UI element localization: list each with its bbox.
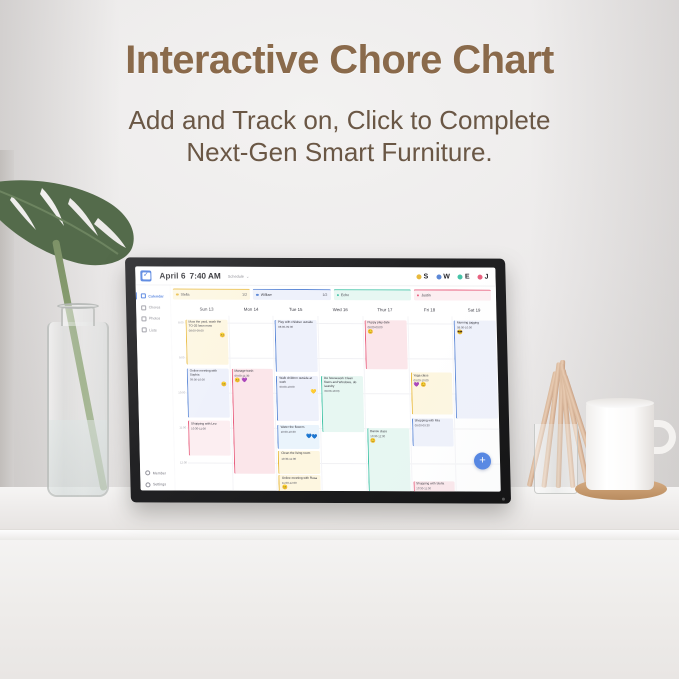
hour-label: 8:00 xyxy=(178,321,184,325)
day-header[interactable]: Sun 13 xyxy=(184,307,229,312)
sidebar-item-label: Member xyxy=(153,471,166,475)
sidebar-item-chores[interactable]: Chores xyxy=(136,302,170,313)
app-body: CalendarChoresPhotosListsMemberSettings … xyxy=(136,285,501,491)
member-dot xyxy=(256,294,259,297)
member-progress: 1/2 xyxy=(242,293,247,297)
vase-neck xyxy=(61,306,95,326)
sidebar-item-calendar[interactable]: Calendar xyxy=(136,290,170,301)
event-title: Shopping with Stella xyxy=(416,482,453,486)
subtitle-line-1: Add and Track on, Click to Complete xyxy=(0,105,679,137)
day-header-row: Sun 13Mon 14Tue 15Wed 16Thur 17Fri 18Sat… xyxy=(171,303,496,317)
avatar-dot xyxy=(458,274,463,279)
event-title: Morning jogging xyxy=(457,322,494,326)
event-title: Do housework Clean floors and Windows, d… xyxy=(324,377,361,388)
add-event-button[interactable]: + xyxy=(474,453,491,470)
event-emoji: 😊 xyxy=(190,383,227,388)
event-title: Manage trash xyxy=(234,370,271,374)
calendar-event[interactable]: Manage trash09:00-11:30😊 💜 xyxy=(231,368,275,473)
event-emoji: 😊 xyxy=(189,334,226,339)
event-title: Puppy play date xyxy=(367,321,404,325)
calendar-event[interactable]: Puppy play date08:00-09:00😊 xyxy=(364,320,407,369)
member-chip-row: Stella1/2William1/2EchoJustin xyxy=(171,286,497,304)
member-name: Stella xyxy=(180,293,189,297)
avatar-dot xyxy=(417,274,422,279)
vase-lip xyxy=(57,303,99,309)
event-title: Clean the living room xyxy=(281,452,318,456)
calendar-event[interactable]: Dance class10:30-12:00😊 xyxy=(367,428,410,491)
event-emoji: 😊 💜 xyxy=(235,379,272,384)
current-time: 7:40 AM xyxy=(189,271,220,280)
member-dot xyxy=(176,293,179,296)
hour-label: 11:00 xyxy=(179,425,186,429)
white-mug xyxy=(586,402,654,490)
member-chip-justin[interactable]: Justin xyxy=(414,289,492,300)
smart-display: April 6 7:40 AM Schedule ⌄ SWEJ Calendar… xyxy=(125,257,511,503)
member-name: Echo xyxy=(341,293,349,297)
desk-front-panel xyxy=(0,540,679,679)
calendar-grid-wrapper: 8:009:0010:0011:0012:00 Mow the yard, wa… xyxy=(171,316,500,492)
chevron-down-icon: ⌄ xyxy=(246,273,249,278)
broom-icon xyxy=(141,305,146,310)
day-column[interactable]: Yoga class09:00-10:00💜 😊Shopping with Mi… xyxy=(408,316,457,491)
mug-rim xyxy=(586,398,654,408)
product-scene: Interactive Chore Chart Add and Track on… xyxy=(0,0,679,679)
calendar-icon xyxy=(141,294,146,299)
event-title: Yoga class xyxy=(413,374,450,378)
avatar-letter: J xyxy=(485,273,489,280)
event-emoji: 😎 xyxy=(457,331,494,336)
avatar-echo[interactable]: E xyxy=(458,273,470,280)
day-header[interactable]: Wed 16 xyxy=(318,307,363,312)
event-title: Shopping with Leo xyxy=(191,422,228,426)
avatar-dot xyxy=(478,274,483,279)
sidebar-item-label: Chores xyxy=(149,305,161,309)
day-column[interactable]: Mow the yard, wash the TO-35 lawn mow08:… xyxy=(184,316,233,491)
day-header[interactable]: Thur 17 xyxy=(363,307,408,312)
calendar-event[interactable]: Yoga class09:00-10:00💜 😊 xyxy=(410,372,453,414)
calendar-event[interactable]: Play with children outside08:00-09:00 xyxy=(275,319,318,372)
event-time: 10:30-11:00 xyxy=(281,457,318,461)
calendar-check-icon[interactable] xyxy=(140,270,151,281)
avatar-letter: E xyxy=(465,273,470,280)
subtitle-line-2: Next-Gen Smart Furniture. xyxy=(0,137,679,169)
sidebar-item-label: Lists xyxy=(149,328,156,332)
member-chip-stella[interactable]: Stella1/2 xyxy=(173,289,251,300)
event-time: 09:00-10:00 xyxy=(324,389,361,393)
calendar-event[interactable]: Morning jogging08:00-10:00😎 xyxy=(454,320,498,418)
event-time: 08:00-09:00 xyxy=(278,325,315,329)
display-bezel: April 6 7:40 AM Schedule ⌄ SWEJ Calendar… xyxy=(125,257,511,503)
list-icon xyxy=(142,328,147,333)
event-title: Shopping with Mia xyxy=(415,419,452,423)
event-time: 10:30-11:00 xyxy=(416,487,453,491)
sidebar-item-lists[interactable]: Lists xyxy=(137,325,171,336)
member-chip-william[interactable]: William1/2 xyxy=(253,289,331,300)
member-dot xyxy=(417,294,420,297)
photo-icon xyxy=(141,316,146,321)
sidebar: CalendarChoresPhotosListsMemberSettings xyxy=(136,285,176,490)
sidebar-item-photos[interactable]: Photos xyxy=(136,313,170,324)
sidebar-item-label: Calendar xyxy=(148,294,163,298)
app-top-bar: April 6 7:40 AM Schedule ⌄ SWEJ xyxy=(135,266,496,286)
event-time: 10:30-11:00 xyxy=(191,426,228,430)
avatar-group: SWEJ xyxy=(417,273,489,280)
day-header[interactable]: Mon 14 xyxy=(229,307,274,312)
user-icon xyxy=(145,471,150,476)
calendar-event[interactable]: Online meeting with Sophia09:00-10:00😊 xyxy=(187,368,230,417)
view-selector[interactable]: Schedule ⌄ xyxy=(228,273,250,278)
sidebar-item-settings[interactable]: Settings xyxy=(140,479,174,490)
day-header[interactable]: Sat 19 xyxy=(452,307,497,312)
day-column[interactable]: Manage trash09:00-11:30😊 💜 xyxy=(229,316,278,491)
event-title: Water the flowers xyxy=(281,426,318,430)
member-name: William xyxy=(261,293,273,297)
member-dot xyxy=(336,294,339,297)
sidebar-item-label: Photos xyxy=(149,317,160,321)
event-title: Dance class xyxy=(370,430,407,434)
event-emoji: 😊 xyxy=(282,486,319,491)
day-column[interactable]: Puppy play date08:00-09:00😊Dance class10… xyxy=(363,316,412,491)
avatar-letter: S xyxy=(424,273,429,280)
sidebar-spacer xyxy=(137,336,174,468)
calendar-event[interactable]: Water the flowers10:00-10:30💙💙 xyxy=(277,424,319,449)
calendar-event[interactable]: Mow the yard, wash the TO-35 lawn mow08:… xyxy=(185,319,228,365)
sidebar-item-member[interactable]: Member xyxy=(140,468,174,479)
event-title: Walk children outside at work xyxy=(279,377,316,385)
event-emoji: 💜 😊 xyxy=(414,383,451,388)
event-title: Play with children outside xyxy=(278,321,315,325)
calendar-event[interactable]: Clean the living room10:30-11:00 xyxy=(278,451,320,474)
calendar-event[interactable]: Online meeting with Rosa11:00-12:00😊 xyxy=(279,475,322,492)
pencil-holder xyxy=(534,424,578,494)
current-date: April 6 xyxy=(159,271,185,280)
calendar-panel: Stella1/2William1/2EchoJustin Sun 13Mon … xyxy=(171,286,501,492)
event-emoji: 💛 xyxy=(280,390,317,395)
hour-label: 10:00 xyxy=(178,391,185,395)
avatar-william[interactable]: W xyxy=(436,273,450,280)
hour-label: 12:00 xyxy=(180,460,187,464)
member-name: Justin xyxy=(421,293,430,297)
avatar-letter: W xyxy=(443,273,450,280)
display-screen: April 6 7:40 AM Schedule ⌄ SWEJ Calendar… xyxy=(135,266,501,491)
calendar-event[interactable]: Shopping with Mia09:00-09:30 xyxy=(412,418,454,446)
day-column[interactable]: Do housework Clean floors and Windows, d… xyxy=(319,316,368,491)
vase-water xyxy=(49,420,107,495)
event-title: Online meeting with Sophia xyxy=(190,370,227,378)
avatar-justin[interactable]: J xyxy=(478,273,489,280)
event-title: Mow the yard, wash the TO-35 lawn mow xyxy=(188,321,225,329)
page-title: Interactive Chore Chart xyxy=(0,38,679,83)
power-indicator xyxy=(502,498,505,501)
day-column[interactable]: Play with children outside08:00-09:00Wal… xyxy=(274,316,323,491)
page-subtitle: Add and Track on, Click to Complete Next… xyxy=(0,105,679,168)
event-time: 09:00-09:30 xyxy=(415,424,452,428)
gear-icon xyxy=(145,482,150,487)
avatar-stella[interactable]: S xyxy=(417,273,429,280)
member-chip-echo[interactable]: Echo xyxy=(333,289,411,300)
calendar-event[interactable]: Shopping with Leo10:30-11:00 xyxy=(188,421,231,456)
sidebar-item-label: Settings xyxy=(153,483,166,487)
event-emoji: 💙💙 xyxy=(281,435,318,440)
event-title: Online meeting with Rosa xyxy=(282,477,319,481)
day-header[interactable]: Fri 18 xyxy=(407,307,452,312)
day-header[interactable]: Tue 15 xyxy=(273,307,318,312)
event-emoji: 😊 xyxy=(368,330,405,335)
monstera-leaf xyxy=(0,176,146,296)
avatar-dot xyxy=(436,274,441,279)
hour-label: 9:00 xyxy=(179,356,185,360)
calendar-event[interactable]: Shopping with Stella10:30-11:00 xyxy=(413,481,456,492)
member-progress: 1/2 xyxy=(322,293,327,297)
event-emoji: 😊 xyxy=(370,439,407,444)
calendar-event[interactable]: Do housework Clean floors and Windows, d… xyxy=(321,376,364,432)
view-selector-label: Schedule xyxy=(228,273,244,278)
calendar-event[interactable]: Walk children outside at work09:00-10:00… xyxy=(276,375,319,421)
calendar-grid[interactable]: Mow the yard, wash the TO-35 lawn mow08:… xyxy=(184,316,500,492)
